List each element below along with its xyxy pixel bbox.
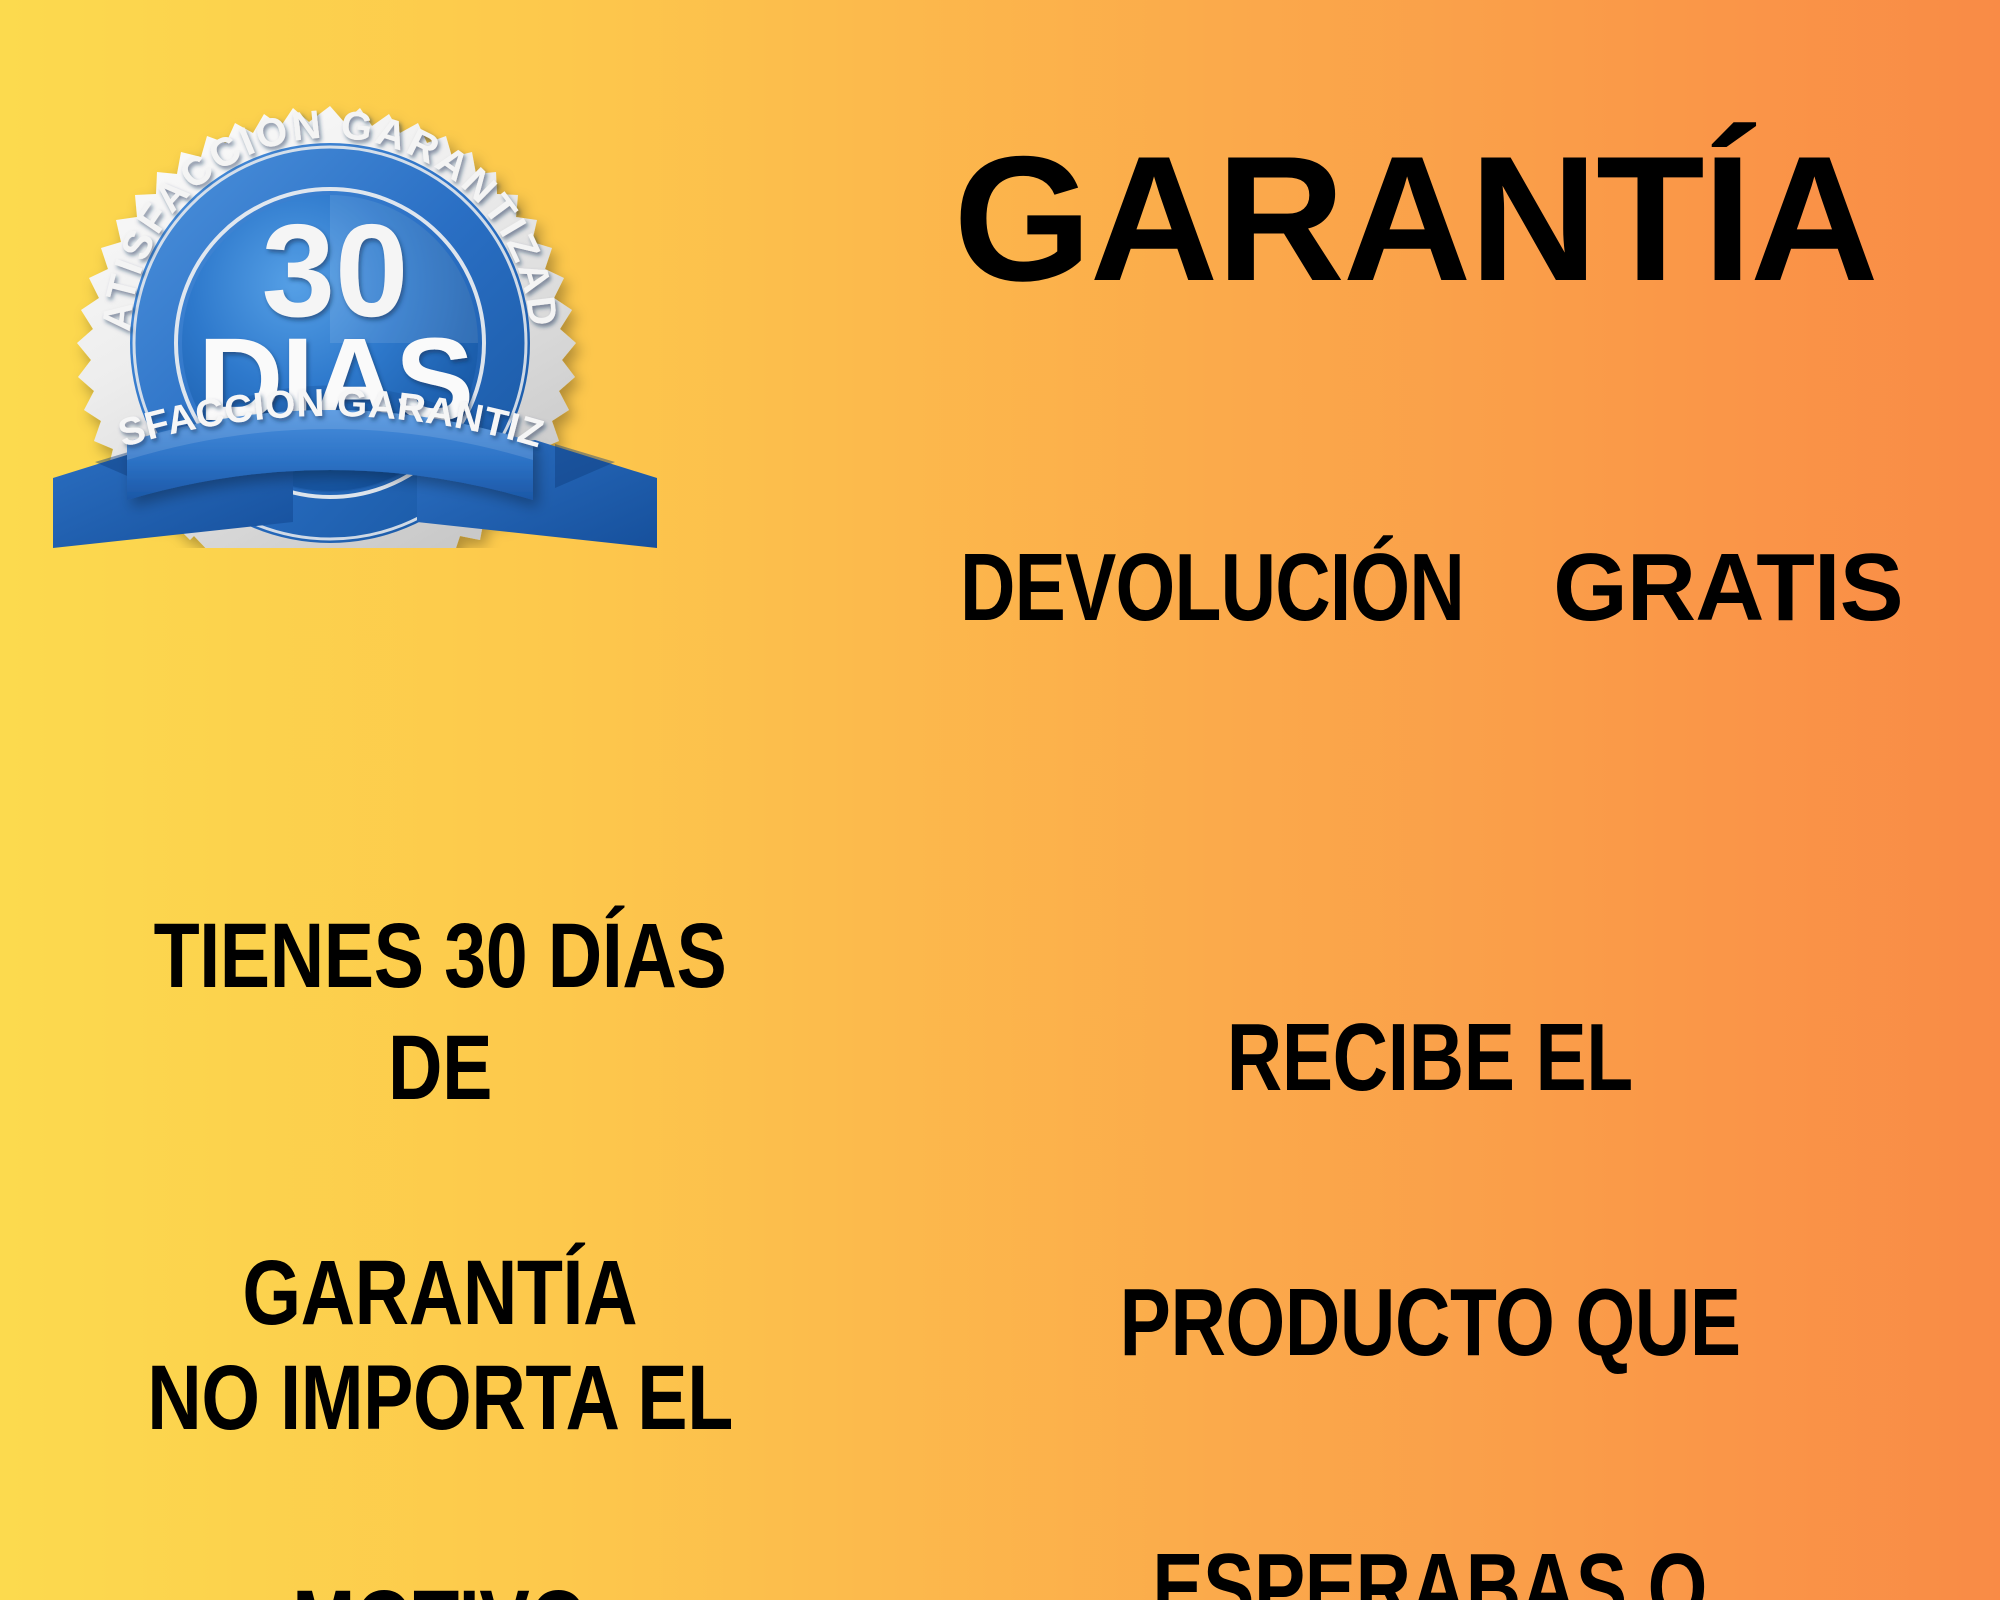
right-block-line-1: RECIBE EL xyxy=(880,992,1980,1124)
left-block-2-line-1: NO IMPORTA EL xyxy=(20,1342,860,1454)
guarantee-badge-graphic: ·SATISFACCION GARANTIZADA· 30 DIAS SATIS… xyxy=(35,48,675,548)
left-block-2-line-2: MOTIVO xyxy=(20,1567,860,1600)
guarantee-badge: ·SATISFACCION GARANTIZADA· 30 DIAS SATIS… xyxy=(35,48,675,548)
right-block-line-1-text: RECIBE EL xyxy=(1227,992,1633,1124)
subheading-word-devolucion: DEVOLUCIÓN xyxy=(960,540,1464,636)
right-text-block-return-policy: RECIBE EL PRODUCTO QUE ESPERABAS O DEVUÉ… xyxy=(880,860,1980,1600)
right-block-line-3-text: ESPERABAS O xyxy=(1153,1522,1708,1600)
right-block-line-2-text: PRODUCTO QUE xyxy=(1119,1257,1740,1389)
right-block-line-2: PRODUCTO QUE xyxy=(880,1257,1980,1389)
left-block-2-line-1-text: NO IMPORTA EL xyxy=(147,1342,733,1454)
guarantee-poster: ·SATISFACCION GARANTIZADA· 30 DIAS SATIS… xyxy=(0,0,2000,1600)
left-block-2-line-2-text: MOTIVO xyxy=(292,1567,587,1600)
left-text-block-any-reason: NO IMPORTA EL MOTIVO xyxy=(20,1230,860,1600)
subheading: DEVOLUCIÓN GRATIS xyxy=(810,540,1990,636)
page-title: GARANTÍA xyxy=(860,130,1970,308)
left-block-1-line-1: TIENES 30 DÍAS DE xyxy=(20,900,860,1124)
subheading-word-gratis: GRATIS xyxy=(1553,534,1903,641)
right-block-line-3: ESPERABAS O xyxy=(880,1522,1980,1600)
left-block-1-line-1-text: TIENES 30 DÍAS DE xyxy=(96,900,785,1124)
